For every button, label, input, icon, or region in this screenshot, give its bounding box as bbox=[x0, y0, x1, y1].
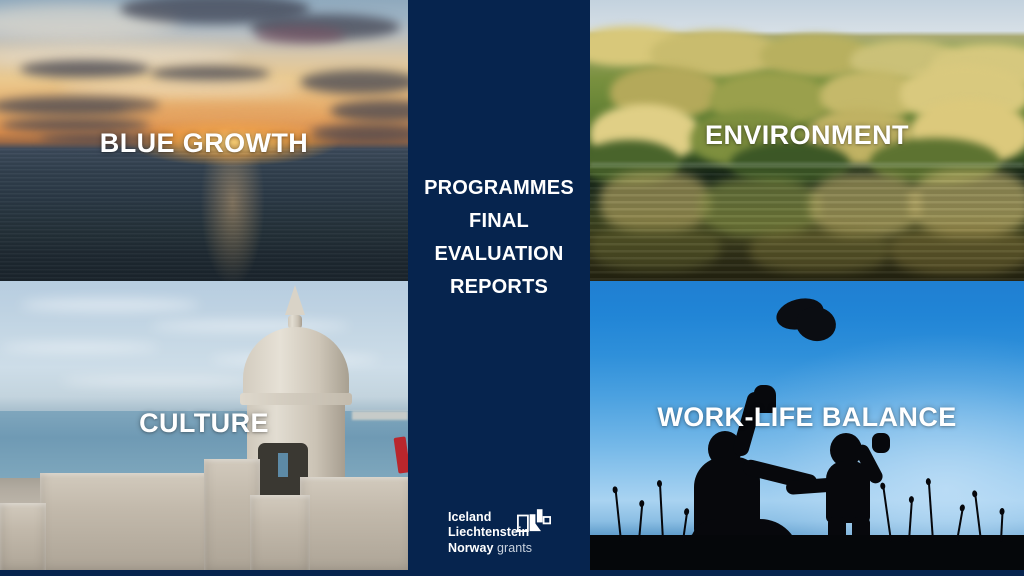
page-title-line-3: EVALUATION bbox=[408, 238, 590, 271]
tile-culture[interactable]: CULTURE bbox=[0, 281, 408, 570]
tile-label-work-life-balance: WORK-LIFE BALANCE bbox=[590, 402, 1024, 433]
tile-label-environment: ENVIRONMENT bbox=[590, 120, 1024, 151]
page-title-line-1: PROGRAMMES bbox=[408, 172, 590, 205]
page-title-line-4: REPORTS bbox=[408, 271, 590, 304]
presentation-slide: BLUE GROWTH bbox=[0, 0, 1024, 576]
tile-blue-growth[interactable]: BLUE GROWTH bbox=[0, 0, 408, 281]
ground-silhouette bbox=[590, 535, 1024, 570]
donor-logo: Iceland Liechtenstein Norway grants bbox=[408, 510, 590, 557]
center-title-panel: PROGRAMMES FINAL EVALUATION REPORTS Icel… bbox=[408, 0, 590, 576]
lake-surface-texture bbox=[590, 166, 1024, 281]
tile-work-life[interactable]: WORK-LIFE BALANCE bbox=[590, 281, 1024, 570]
tile-environment[interactable]: ENVIRONMENT bbox=[590, 0, 1024, 281]
logo-line-norway-grants: Norway grants bbox=[448, 541, 550, 557]
page-title-line-2: FINAL bbox=[408, 205, 590, 238]
logo-norway: Norway bbox=[448, 541, 493, 555]
page-title: PROGRAMMES FINAL EVALUATION REPORTS bbox=[408, 172, 590, 304]
logo-grants-word: grants bbox=[497, 541, 532, 555]
tile-label-blue-growth: BLUE GROWTH bbox=[0, 128, 408, 159]
bottom-navy-strip bbox=[0, 570, 1024, 576]
water-ripple-texture bbox=[0, 149, 408, 281]
iceland-liechtenstein-norway-grants-mark bbox=[517, 508, 551, 538]
tile-label-culture: CULTURE bbox=[0, 408, 408, 439]
